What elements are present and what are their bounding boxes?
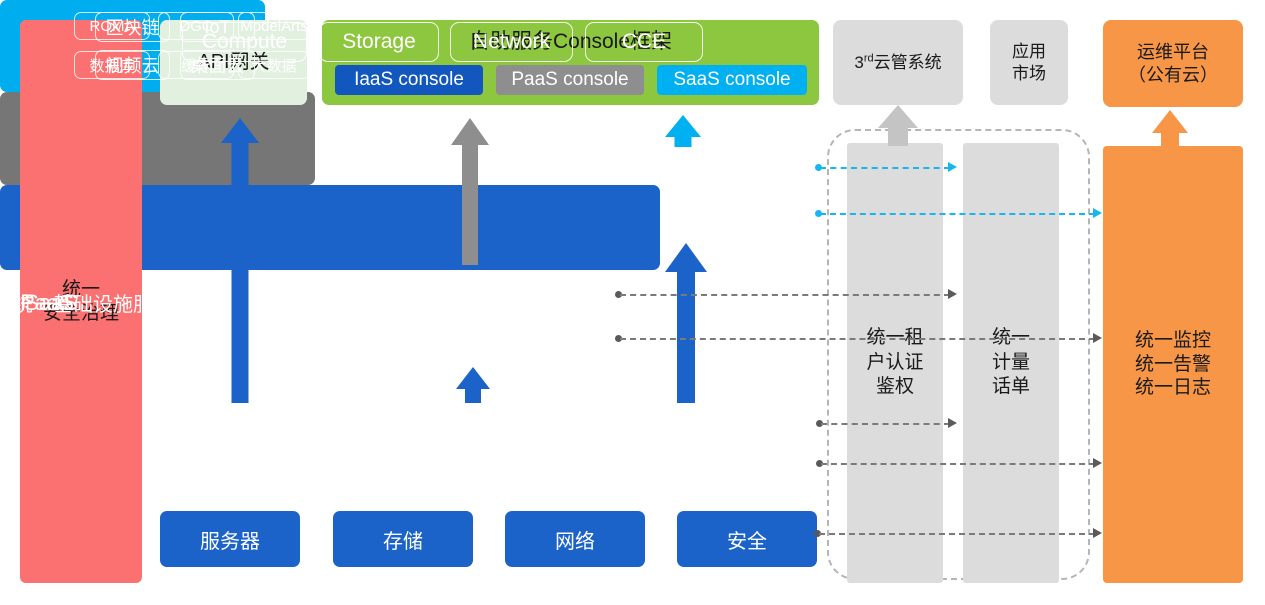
unified-infrastructure-service-bar: 统一基础设施服务 Compute Storage Network CCE — [0, 185, 660, 270]
connector-arrowhead-saas-ops — [1093, 208, 1102, 218]
arrow-saas-to-console — [665, 115, 701, 147]
connector-arrowhead-infra-ops — [1093, 458, 1102, 468]
connector-hardware-to-ops-monitor — [819, 533, 1095, 535]
unified-monitoring-label: 统一监控统一告警统一日志 — [1135, 329, 1211, 400]
unified-metering-billing-column: 统一计量话单 — [963, 143, 1059, 583]
hardware-box-network[interactable]: 网络 — [505, 511, 645, 567]
connector-infra-to-tenant-auth — [821, 423, 950, 425]
unified-tenant-auth-column: 统一租户认证鉴权 — [847, 143, 943, 583]
paas-console-chip[interactable]: PaaS console — [496, 65, 644, 95]
arrow-ops-monitor-to-platform — [1152, 110, 1188, 146]
connector-arrowhead-paas-auth — [948, 289, 957, 299]
connector-paas-to-ops-monitor — [620, 338, 1095, 340]
ops-platform-box: 运维平台（公有云） — [1103, 20, 1243, 107]
iaas-console-chip[interactable]: IaaS console — [335, 65, 483, 95]
connector-infra-to-ops-monitor — [821, 463, 1095, 465]
connector-arrowhead-paas-ops — [1093, 333, 1102, 343]
infrastructure-service-storage[interactable]: Storage — [319, 22, 439, 62]
hardware-box-server[interactable]: 服务器 — [160, 511, 300, 567]
hardware-box-security[interactable]: 安全 — [677, 511, 817, 567]
connector-paas-to-tenant-auth — [620, 294, 950, 296]
infrastructure-layer-label: 统一基础设施服务 — [13, 0, 173, 605]
app-market-label: 应用市场 — [1012, 41, 1046, 84]
connector-saas-to-tenant-auth — [820, 167, 950, 169]
unified-monitoring-panel: 统一监控统一告警统一日志 — [1103, 146, 1243, 583]
application-market-box: 应用市场 — [990, 20, 1068, 105]
architecture-diagram: 统一安全治理 API网关 自助服务Console框架 IaaS console … — [0, 0, 1265, 605]
connector-arrowhead-saas-auth — [948, 162, 957, 172]
arrow-infra-to-paas — [456, 367, 490, 403]
infrastructure-service-network[interactable]: Network — [450, 22, 573, 62]
hardware-box-storage[interactable]: 存储 — [333, 511, 473, 567]
infrastructure-service-compute[interactable]: Compute — [182, 22, 307, 62]
arrow-infra-to-saas — [665, 243, 707, 403]
connector-arrowhead-infra-auth — [948, 418, 957, 428]
third-party-cloud-label: 3rd云管系统 — [854, 52, 941, 73]
third-party-cloud-management-box: 3rd云管系统 — [833, 20, 963, 105]
saas-console-chip[interactable]: SaaS console — [657, 65, 807, 95]
connector-arrowhead-hardware-ops — [1093, 528, 1102, 538]
ops-platform-label: 运维平台（公有云） — [1128, 41, 1218, 86]
infrastructure-service-cce[interactable]: CCE — [585, 22, 703, 62]
connector-saas-to-ops-monitor — [820, 213, 1095, 215]
